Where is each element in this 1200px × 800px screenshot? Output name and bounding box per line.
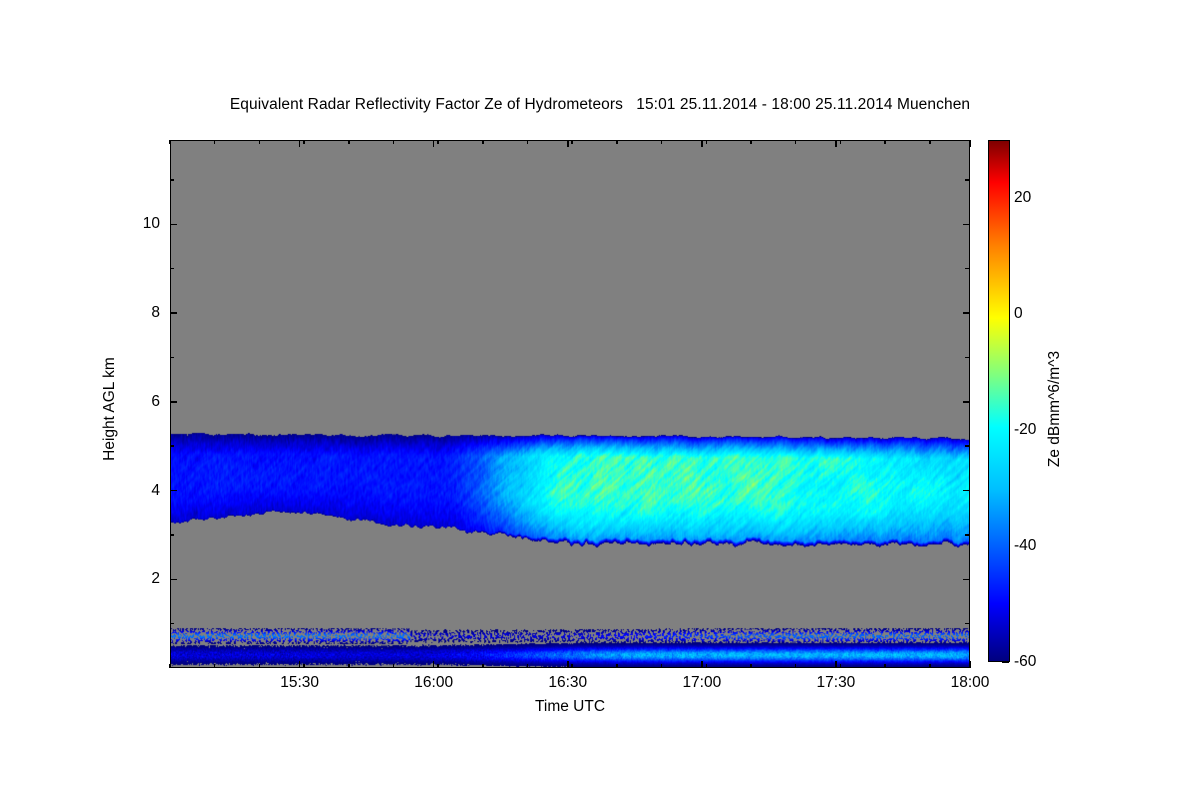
x-tick-minor-top [437,140,439,144]
x-tick-minor-top [393,140,395,144]
x-tick-label: 16:30 [533,674,603,692]
radar-heatmap-plot[interactable] [170,140,970,668]
x-tick-minor-top [259,140,261,144]
y-tick-minor-right [965,179,969,181]
x-tick-minor-top [616,140,618,144]
y-tick-minor [170,534,174,536]
x-tick-minor-top [840,140,842,144]
x-tick-major [701,661,703,668]
x-tick-minor-top [571,140,573,144]
y-tick-minor [170,179,174,181]
y-tick-minor-right [965,623,969,625]
x-tick-minor [661,664,663,668]
y-tick-major [170,224,177,226]
y-tick-minor [170,268,174,270]
x-tick-minor-top [706,140,708,144]
x-tick-label: 17:30 [801,674,871,692]
y-tick-major-right [963,490,970,492]
y-tick-label: 6 [120,393,160,411]
y-tick-minor-right [965,268,969,270]
x-tick-major-top [433,140,435,147]
x-tick-minor-top [482,140,484,144]
y-tick-label: 10 [120,215,160,233]
y-tick-major [170,312,177,314]
x-tick-major [835,661,837,668]
y-tick-major [170,490,177,492]
x-tick-major [299,661,301,668]
x-tick-major-top [567,140,569,147]
colorbar-tick-label: -40 [1014,537,1036,555]
colorbar-tick-label: 20 [1014,189,1031,207]
x-tick-minor [259,664,261,668]
y-tick-major-right [963,401,970,403]
x-tick-minor [169,664,171,668]
x-tick-major [433,661,435,668]
x-tick-minor-top [214,140,216,144]
x-tick-minor [706,664,708,668]
x-tick-minor-top [795,140,797,144]
y-tick-minor-right [965,445,969,447]
x-tick-minor-top [661,140,663,144]
x-tick-label: 18:00 [935,674,1005,692]
x-tick-minor [437,664,439,668]
y-tick-minor [170,623,174,625]
x-tick-minor [750,664,752,668]
x-tick-minor [348,664,350,668]
y-tick-label: 8 [120,304,160,322]
x-tick-minor [303,664,305,668]
x-tick-major [969,661,971,668]
figure-root: Equivalent Radar Reflectivity Factor Ze … [0,0,1200,800]
x-tick-major-top [835,140,837,147]
x-tick-label: 15:30 [265,674,335,692]
x-tick-minor [527,664,529,668]
y-tick-major [170,401,177,403]
x-tick-major-top [299,140,301,147]
colorbar-tick-label: 0 [1014,305,1023,323]
colorbar-tick-label: -60 [1014,653,1036,671]
y-tick-major-right [963,312,970,314]
x-tick-label: 16:00 [399,674,469,692]
x-tick-minor [571,664,573,668]
x-tick-minor [795,664,797,668]
colorbar-tick-label: -20 [1014,421,1036,439]
y-axis-title: Height AGL km [101,294,119,524]
y-tick-minor-right [965,357,969,359]
x-tick-minor [214,664,216,668]
x-tick-minor-top [750,140,752,144]
x-tick-minor-top [884,140,886,144]
x-tick-minor-top [348,140,350,144]
x-tick-minor [482,664,484,668]
y-tick-minor [170,357,174,359]
x-tick-major [567,661,569,668]
x-tick-major-top [969,140,971,147]
y-tick-major-right [963,579,970,581]
y-tick-minor [170,445,174,447]
x-tick-minor-top [929,140,931,144]
y-tick-minor-right [965,534,969,536]
x-tick-label: 17:00 [667,674,737,692]
colorbar-gradient [989,141,1009,661]
x-tick-minor [840,664,842,668]
x-tick-minor-top [303,140,305,144]
x-tick-major-top [701,140,703,147]
colorbar-title: Ze dBmm^6/m^3 [1046,294,1064,524]
y-tick-label: 2 [120,570,160,588]
y-tick-label: 4 [120,482,160,500]
x-tick-minor [393,664,395,668]
x-axis-title: Time UTC [170,698,970,716]
y-tick-major [170,579,177,581]
heatmap-canvas [171,141,969,667]
colorbar[interactable] [988,140,1010,662]
y-tick-major-right [963,224,970,226]
figure-title: Equivalent Radar Reflectivity Factor Ze … [0,96,1200,114]
x-tick-minor [616,664,618,668]
x-tick-minor [884,664,886,668]
x-tick-minor-top [169,140,171,144]
x-tick-minor [929,664,931,668]
x-tick-minor-top [527,140,529,144]
